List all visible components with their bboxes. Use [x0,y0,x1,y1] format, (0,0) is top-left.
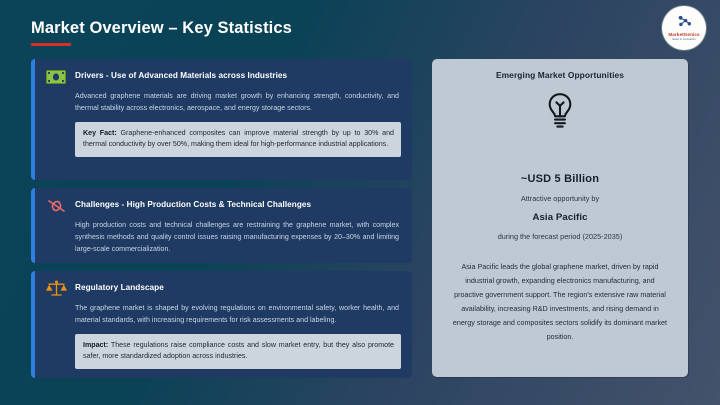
card-title: Drivers - Use of Advanced Materials acro… [75,68,287,81]
balance-scale-icon [45,279,67,298]
opportunity-region: Asia Pacific [447,212,673,223]
opportunity-value: ~USD 5 Billion [447,173,673,185]
page-title: Market Overview – Key Statistics [31,19,292,38]
card-title: Challenges - High Production Costs & Tec… [75,197,311,210]
broken-link-icon [45,196,67,215]
header: Market Overview – Key Statistics [31,19,292,46]
panel-title: Emerging Market Opportunities [447,70,673,80]
lightbulb-icon [543,91,577,131]
opportunity-description: Asia Pacific leads the global graphene m… [447,260,673,344]
callout-label: Impact: [83,341,108,349]
card-header: Regulatory Landscape [45,280,401,298]
card-body-text: The graphene market is shaped by evolvin… [45,303,401,327]
molecule-icon [677,14,692,32]
card-challenges[interactable]: Challenges - High Production Costs & Tec… [31,188,412,263]
card-regulatory-landscape[interactable]: Regulatory Landscape The graphene market… [31,271,412,378]
card-header: Drivers - Use of Advanced Materials acro… [45,68,401,86]
key-fact-callout: Key Fact: Graphene-enhanced composites c… [75,122,401,157]
money-banknote-icon [45,67,67,86]
statistics-card-list: Drivers - Use of Advanced Materials acro… [31,59,412,386]
emerging-opportunities-panel: Emerging Market Opportunities ~USD 5 Bil… [432,59,688,377]
title-underline-accent [31,43,71,46]
forecast-period: during the forecast period (2025-2035) [447,232,673,241]
card-header: Challenges - High Production Costs & Tec… [45,197,401,215]
opportunity-subtitle: Attractive opportunity by [447,194,673,203]
callout-text: These regulations raise compliance costs… [83,341,394,360]
callout-label: Key Fact: [83,129,117,137]
logo-tagline: Ideas to Innovation [672,39,696,42]
card-body-text: High production costs and technical chal… [45,220,401,256]
brand-logo: MarketGenics Ideas to Innovation [662,6,706,50]
callout-text: Graphene-enhanced composites can improve… [83,129,394,148]
card-title: Regulatory Landscape [75,280,164,293]
card-drivers[interactable]: Drivers - Use of Advanced Materials acro… [31,59,412,180]
impact-callout: Impact: These regulations raise complian… [75,334,401,369]
card-body-text: Advanced graphene materials are driving … [45,91,401,115]
